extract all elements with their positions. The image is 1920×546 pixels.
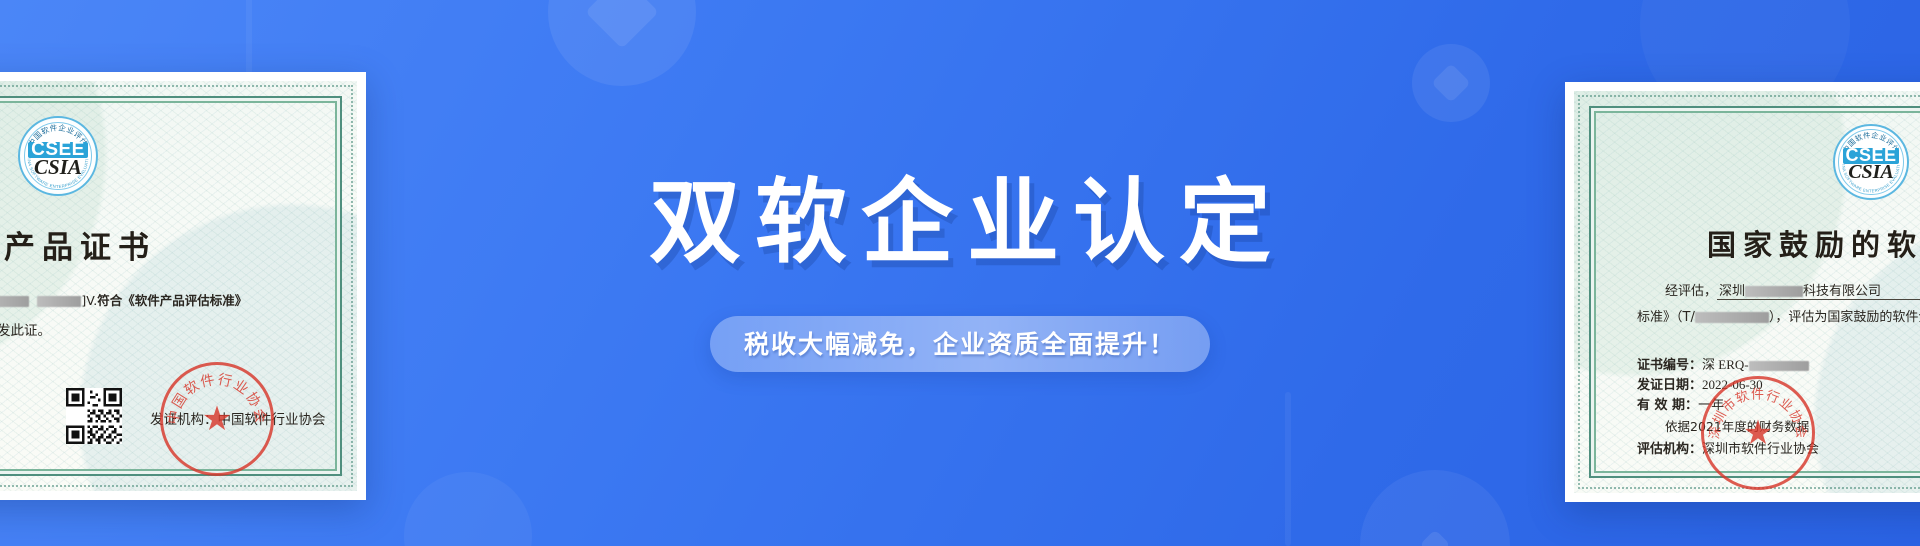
redacted-name-1 <box>0 296 29 307</box>
csee-csia-emblem-icon: 中国软件企业评估 CHINA SOFTWARE ENTERPRISE EVALU… <box>1833 124 1909 200</box>
company-suffix: 科技有限公司 <box>1803 284 1881 299</box>
right-certificate-title: 国家鼓励的软件企业 <box>1707 222 1920 264</box>
seal-star-icon: ★ <box>1743 416 1773 450</box>
right-certificate-appraisal-line: 经评估，深圳 科技有限公司 <box>1665 280 1920 299</box>
issue-date-label: 发证日期： <box>1637 378 1702 393</box>
left-certificate-qr-code <box>66 388 122 444</box>
software-product-certificate: 中国软件企业评估 CHINA SOFTWARE ENTERPRISE EVALU… <box>0 72 366 500</box>
right-certificate-standard-line: 标准》（T/ ），评估为国家鼓励的软件企业 <box>1637 306 1920 325</box>
standard-prefix: 标准》（T/ <box>1637 310 1695 325</box>
redacted-cert-number <box>1749 361 1809 371</box>
cert-number-label: 证书编号： <box>1637 358 1702 373</box>
subtitle-badge: 税收大幅减免，企业资质全面提升！ <box>710 316 1210 372</box>
csee-csia-emblem-icon: 中国软件企业评估 CHINA SOFTWARE ENTERPRISE EVALU… <box>18 116 98 196</box>
cert-number-value: 深 ERQ- <box>1702 357 1749 372</box>
left-cert-body-frag-3: 符合《软件产品评估标准》 <box>97 293 247 308</box>
appraisal-prefix: 经评估， <box>1665 284 1717 299</box>
promo-banner: 中国软件企业评估 CHINA SOFTWARE ENTERPRISE EVALU… <box>0 0 1920 546</box>
company-prefix: 深圳 <box>1719 284 1745 299</box>
left-certificate-title: 软件产品证书 <box>0 222 156 267</box>
left-cert-body-frag-2: ]V. <box>81 293 97 308</box>
page-title: 双软企业认定 <box>635 174 1285 272</box>
left-certificate-body-line-2: 软件产品，特发此证。 <box>0 319 51 339</box>
seal-star-icon: ★ <box>202 402 232 436</box>
decor-circle-bottom-left <box>404 472 532 546</box>
validity-label: 有 效 期： <box>1637 398 1698 413</box>
emblem-csia-label: CSIA <box>29 158 87 176</box>
redacted-standard-code <box>1695 312 1769 323</box>
right-certificate-red-seal: 深圳市软件行业协会 ★ <box>1701 376 1815 490</box>
right-certificate-field-row: 证书编号：深 ERQ- <box>1637 354 1809 373</box>
redacted-company-name <box>1745 286 1803 297</box>
redacted-name-2 <box>37 296 81 307</box>
emblem-csia-label: CSIA <box>1844 164 1899 181</box>
left-certificate-red-seal: 中国软件行业协会 ★ <box>160 362 274 476</box>
state-encouraged-software-enterprise-certificate: 中国软件企业评估 CHINA SOFTWARE ENTERPRISE EVALU… <box>1565 82 1920 502</box>
org-label: 评估机构： <box>1637 442 1702 457</box>
standard-suffix: ），评估为国家鼓励的软件企业 <box>1769 310 1920 325</box>
left-certificate-body-line-1: 软件[简称： ]V.符合《软件产品评估标准》 <box>0 290 247 309</box>
decor-bar-right <box>1285 392 1291 546</box>
